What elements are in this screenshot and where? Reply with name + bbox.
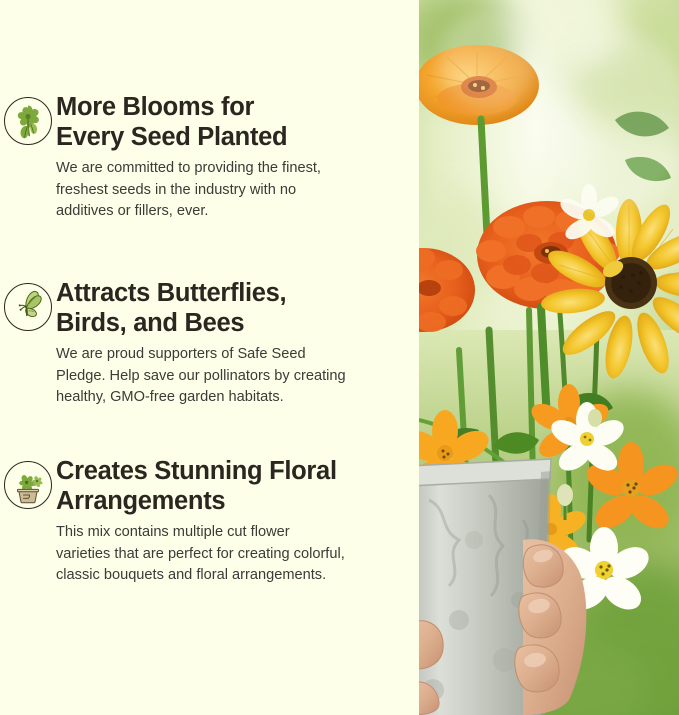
feature-title: Attracts Butterflies, Birds, and Bees xyxy=(56,278,405,338)
flower-sprout-icon xyxy=(0,92,56,146)
feature-description: We are committed to providing the finest… xyxy=(56,158,405,223)
feature-description: We are proud supporters of Safe Seed Ple… xyxy=(56,344,405,409)
flower-bouquet-photo xyxy=(419,0,679,715)
feature-text-block: Attracts Butterflies, Birds, and Bees We… xyxy=(56,278,419,409)
feature-item-floral-arrangements: Creates Stunning Floral Arrangements Thi… xyxy=(0,456,419,587)
potted-plant-icon xyxy=(0,456,56,510)
feature-text-block: More Blooms for Every Seed Planted We ar… xyxy=(56,92,419,223)
feature-title: More Blooms for Every Seed Planted xyxy=(56,92,405,152)
feature-item-attracts-pollinators: Attracts Butterflies, Birds, and Bees We… xyxy=(0,278,419,409)
feature-text-block: Creates Stunning Floral Arrangements Thi… xyxy=(56,456,419,587)
feature-item-more-blooms: More Blooms for Every Seed Planted We ar… xyxy=(0,92,419,223)
product-feature-page: More Blooms for Every Seed Planted We ar… xyxy=(0,0,679,715)
feature-description: This mix contains multiple cut flower va… xyxy=(56,522,405,587)
feature-title: Creates Stunning Floral Arrangements xyxy=(56,456,405,516)
butterfly-icon xyxy=(0,278,56,332)
features-panel: More Blooms for Every Seed Planted We ar… xyxy=(0,0,419,715)
